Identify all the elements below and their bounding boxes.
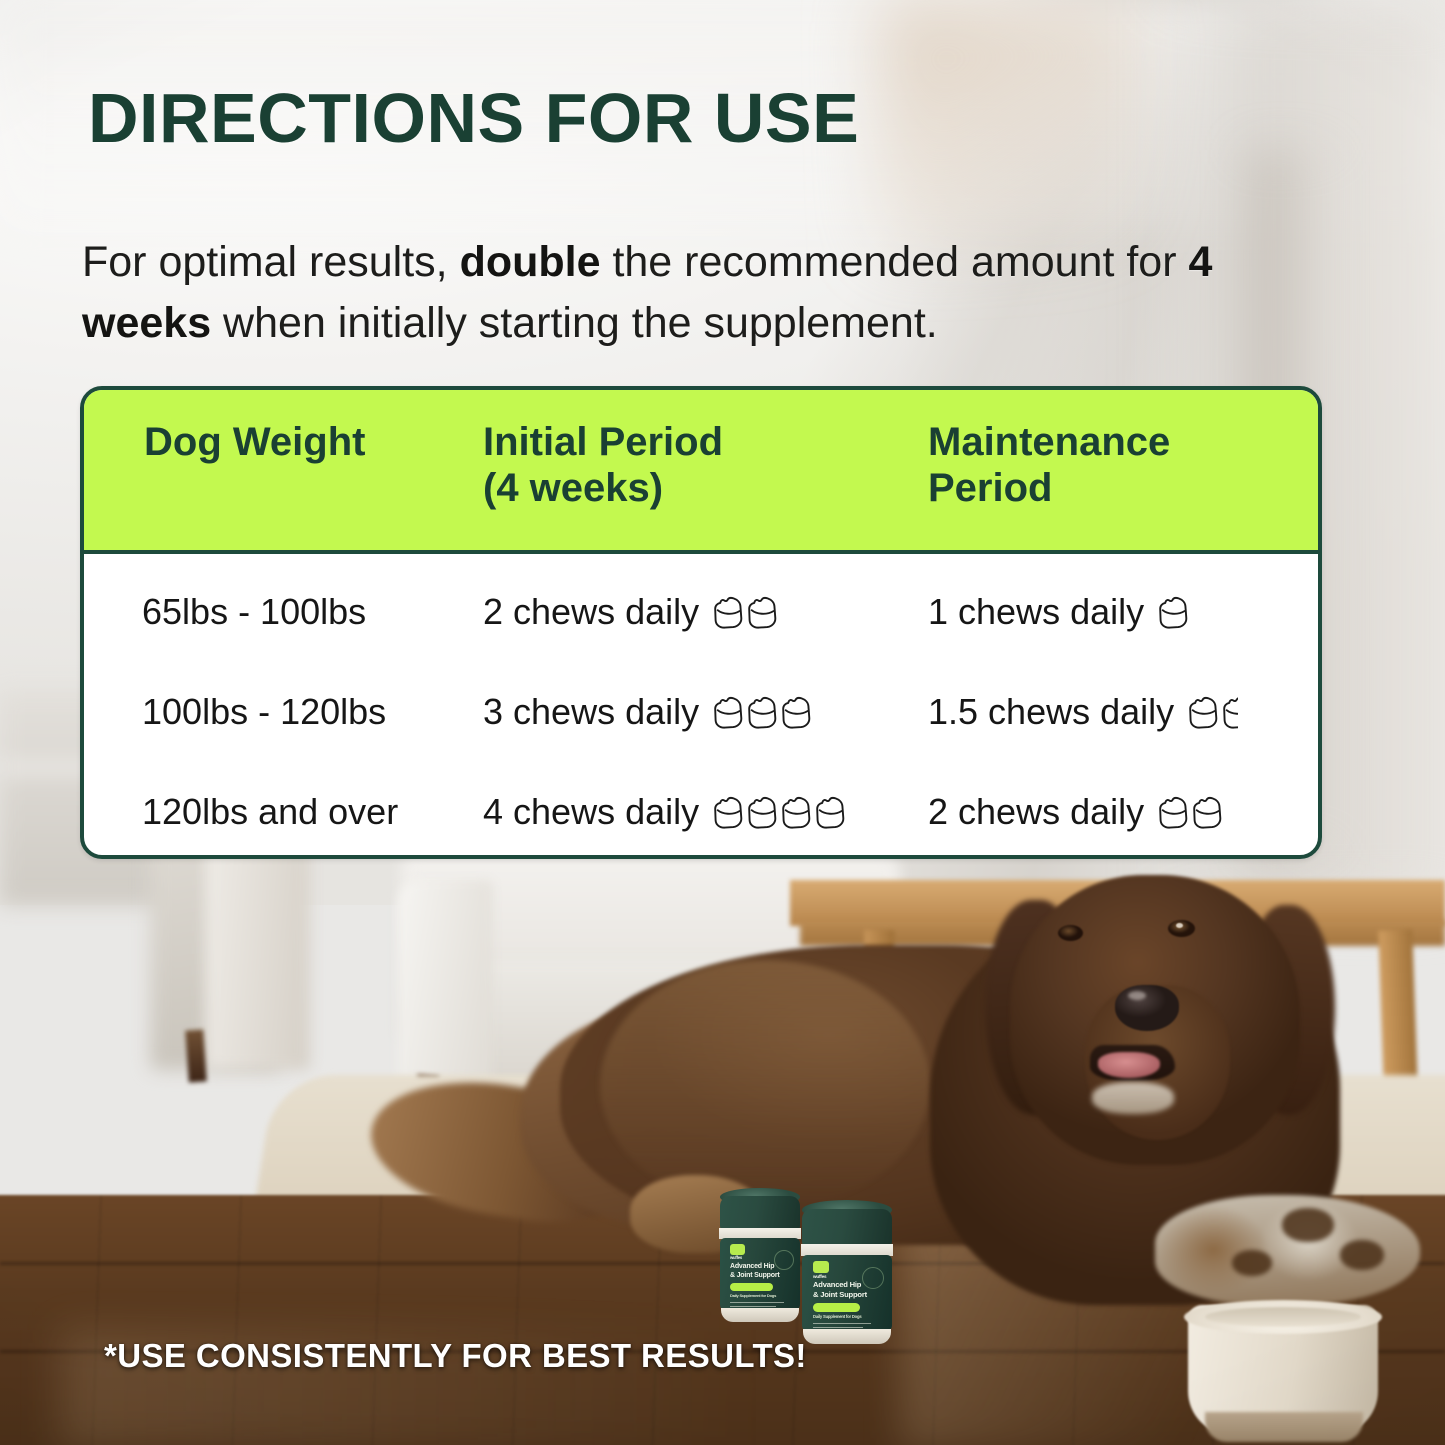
chew-treat-icon	[713, 596, 744, 629]
chew-treat-icon	[815, 796, 846, 829]
cell-dog-weight: 100lbs - 120lbs	[142, 662, 386, 762]
chew-treat-icon	[747, 596, 778, 629]
chew-count-maintenance	[1158, 796, 1223, 829]
column-header-initial-period: Initial Period (4 weeks)	[483, 419, 723, 512]
column-header-maintenance-period-line2: Period	[928, 465, 1170, 511]
chew-treat-icon	[747, 696, 778, 729]
chew-count-initial	[713, 796, 846, 829]
chew-count-initial	[713, 596, 778, 629]
cell-initial-period-text: 4 chews daily	[483, 791, 699, 833]
table-row: 65lbs - 100lbs 2 chews daily 1 chews dai…	[84, 562, 1318, 662]
chew-treat-icon	[1158, 796, 1189, 829]
page-title: DIRECTIONS FOR USE	[88, 78, 859, 158]
cell-maintenance-period: 1.5 chews daily	[928, 662, 1238, 762]
footnote: *USE CONSISTENTLY FOR BEST RESULTS!	[104, 1337, 807, 1375]
cell-maintenance-period-text: 1 chews daily	[928, 591, 1144, 633]
chew-treat-icon	[1158, 596, 1189, 629]
cell-initial-period: 3 chews daily	[483, 662, 812, 762]
subtitle-text-2: the recommended amount for	[601, 238, 1189, 286]
cell-initial-period-text: 3 chews daily	[483, 691, 699, 733]
chew-treat-icon	[781, 796, 812, 829]
cell-initial-period: 2 chews daily	[483, 562, 778, 662]
chew-treat-icon	[713, 696, 744, 729]
chew-treat-icon	[1192, 796, 1223, 829]
column-header-dog-weight: Dog Weight	[144, 419, 365, 465]
subtitle-text-1: For optimal results,	[82, 238, 460, 286]
chew-count-initial	[713, 696, 812, 729]
overlay-content: DIRECTIONS FOR USE For optimal results, …	[0, 0, 1445, 1445]
subtitle-text-3: when initially starting the supplement.	[211, 299, 938, 347]
column-header-maintenance-period: Maintenance Period	[928, 419, 1170, 512]
dosage-table-header-row: Dog Weight Initial Period (4 weeks) Main…	[84, 390, 1318, 554]
cell-dog-weight: 65lbs - 100lbs	[142, 562, 366, 662]
cell-initial-period-text: 2 chews daily	[483, 591, 699, 633]
chew-treat-icon	[1188, 696, 1219, 729]
cell-maintenance-period-text: 2 chews daily	[928, 791, 1144, 833]
cell-initial-period: 4 chews daily	[483, 762, 846, 859]
subtitle-emphasis-double: double	[460, 238, 601, 286]
column-header-initial-period-line1: Initial Period	[483, 419, 723, 465]
dosage-table: Dog Weight Initial Period (4 weeks) Main…	[80, 386, 1322, 859]
column-header-maintenance-period-line1: Maintenance	[928, 419, 1170, 465]
dosage-table-body: 65lbs - 100lbs 2 chews daily 1 chews dai…	[84, 554, 1318, 854]
chew-count-maintenance	[1188, 696, 1238, 729]
column-header-dog-weight-label: Dog Weight	[144, 419, 365, 465]
chew-treat-icon	[713, 796, 744, 829]
cell-maintenance-period: 2 chews daily	[928, 762, 1223, 859]
chew-count-maintenance	[1158, 596, 1189, 629]
table-row: 120lbs and over 4 chews daily 2 chews da…	[84, 762, 1318, 859]
column-header-initial-period-line2: (4 weeks)	[483, 465, 723, 511]
chew-treat-icon	[781, 696, 812, 729]
chew-treat-icon	[747, 796, 778, 829]
cell-maintenance-period-text: 1.5 chews daily	[928, 691, 1174, 733]
cell-maintenance-period: 1 chews daily	[928, 562, 1189, 662]
chew-treat-half-icon	[1222, 696, 1238, 729]
page-subtitle: For optimal results, double the recommen…	[82, 232, 1312, 354]
cell-dog-weight: 120lbs and over	[142, 762, 398, 859]
table-row: 100lbs - 120lbs 3 chews daily 1.5 chews …	[84, 662, 1318, 762]
